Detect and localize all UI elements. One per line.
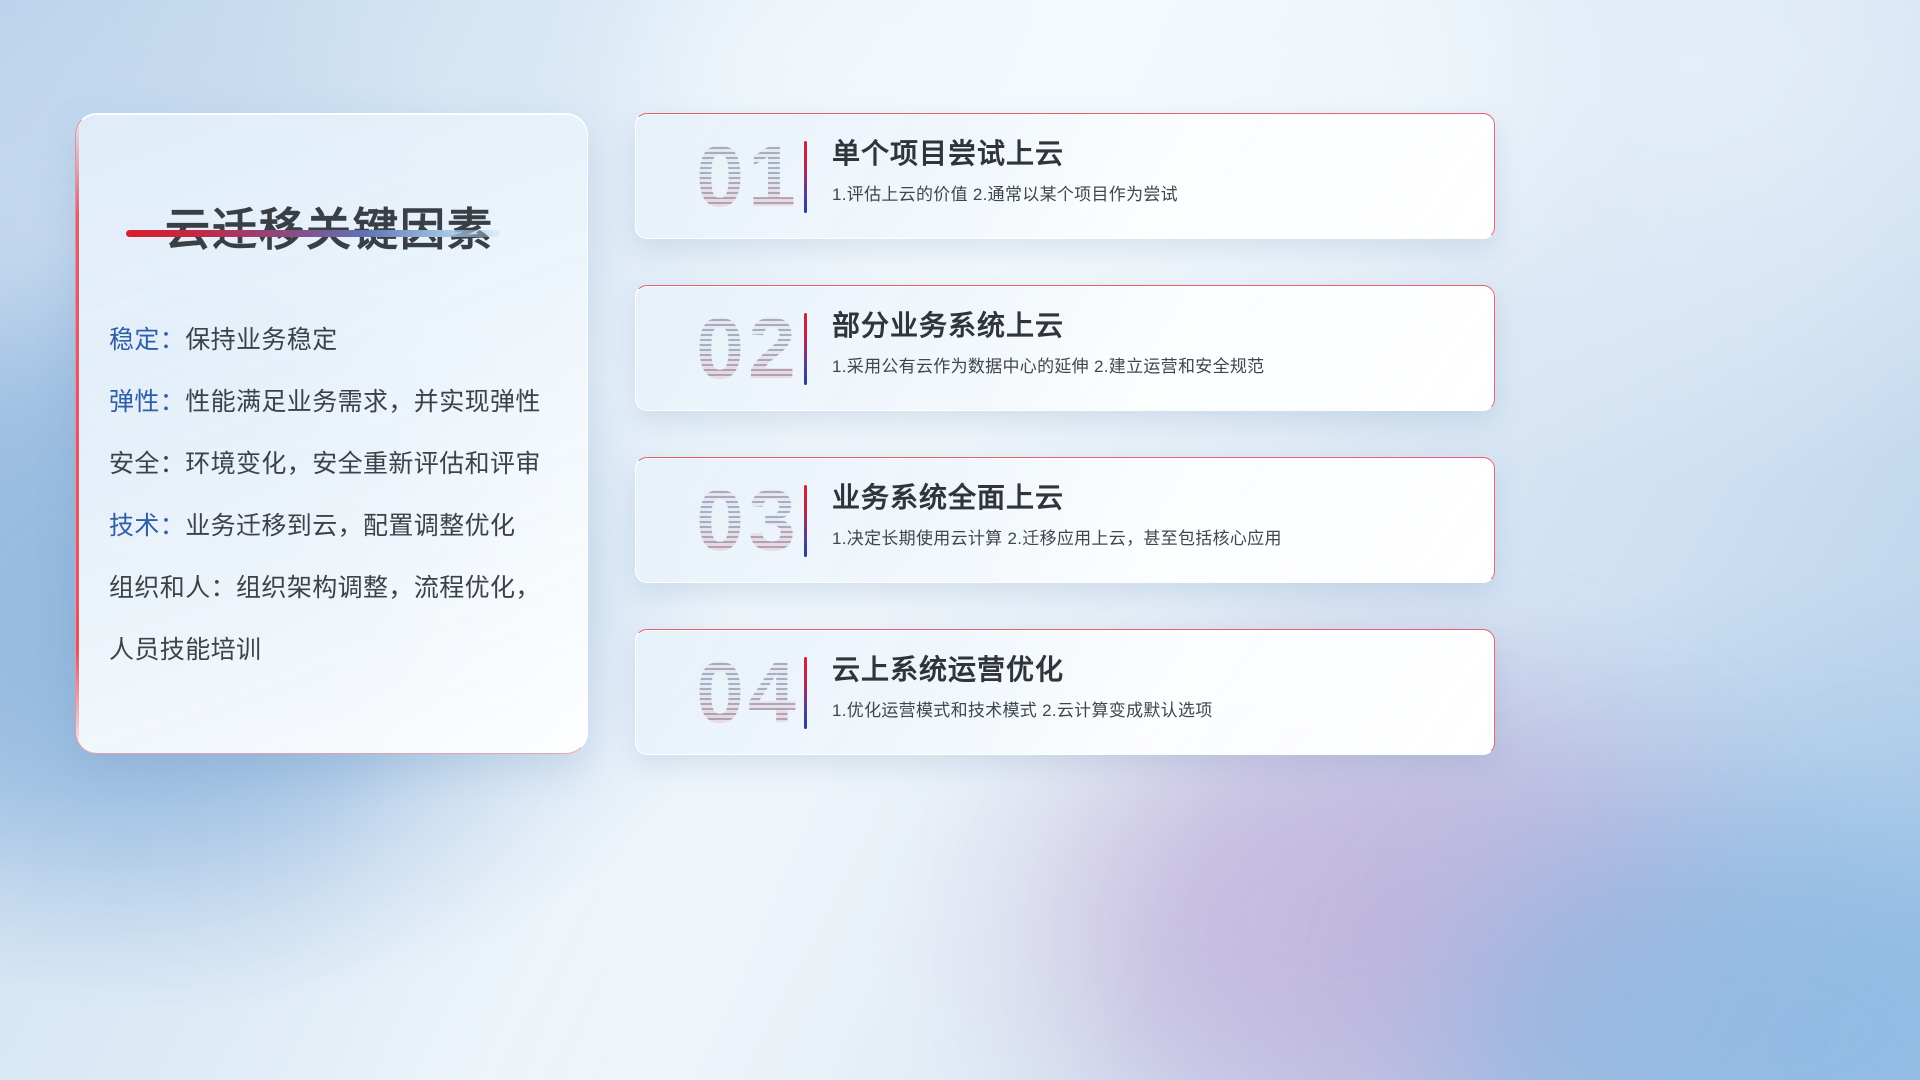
factor-text: 组织架构调整，流程优化， [236, 574, 541, 602]
step-title: 单个项目尝试上云 [832, 134, 1478, 174]
step-number: 02 [658, 294, 838, 404]
step-body: 部分业务系统上云 1.采用公有云作为数据中心的延伸 2.建立运营和安全规范 [832, 306, 1478, 380]
slide-canvas: 云迁移关键因素 稳定：保持业务稳定 弹性：性能满足业务需求，并实现弹性 安全：环… [0, 0, 1920, 1080]
step-card[interactable]: 02 02 部分业务系统上云 1.采用公有云作为数据中心的延伸 2.建立运营和安… [635, 285, 1495, 411]
step-title: 云上系统运营优化 [832, 650, 1478, 690]
step-accent-bar [804, 657, 807, 729]
key-factors-panel: 云迁移关键因素 稳定：保持业务稳定 弹性：性能满足业务需求，并实现弹性 安全：环… [75, 113, 588, 754]
list-item: 人员技能培训 [109, 619, 569, 681]
factor-text: 保持业务稳定 [185, 326, 337, 354]
factor-text: 环境变化，安全重新评估和评审 [185, 450, 541, 478]
step-number: 01 [658, 122, 838, 232]
factor-text: 性能满足业务需求，并实现弹性 [185, 388, 541, 416]
step-description: 1.决定长期使用云计算 2.迁移应用上云，甚至包括核心应用 [832, 526, 1478, 552]
step-body: 云上系统运营优化 1.优化运营模式和技术模式 2.云计算变成默认选项 [832, 650, 1478, 724]
list-item: 技术：业务迁移到云，配置调整优化 [109, 495, 569, 557]
factor-key: 技术： [109, 512, 185, 540]
factor-text: 业务迁移到云，配置调整优化 [185, 512, 515, 540]
step-title: 业务系统全面上云 [832, 478, 1478, 518]
list-item: 安全：环境变化，安全重新评估和评审 [109, 433, 569, 495]
step-accent-bar [804, 313, 807, 385]
slide-content: 云迁移关键因素 稳定：保持业务稳定 弹性：性能满足业务需求，并实现弹性 安全：环… [0, 0, 1920, 1080]
step-body: 业务系统全面上云 1.决定长期使用云计算 2.迁移应用上云，甚至包括核心应用 [832, 478, 1478, 552]
factor-text: 人员技能培训 [109, 636, 261, 664]
step-body: 单个项目尝试上云 1.评估上云的价值 2.通常以某个项目作为尝试 [832, 134, 1478, 208]
list-item: 组织和人：组织架构调整，流程优化， [109, 557, 569, 619]
step-description: 1.采用公有云作为数据中心的延伸 2.建立运营和安全规范 [832, 354, 1478, 380]
list-item: 稳定：保持业务稳定 [109, 309, 569, 371]
step-description: 1.优化运营模式和技术模式 2.云计算变成默认选项 [832, 698, 1478, 724]
step-accent-bar [804, 141, 807, 213]
step-card[interactable]: 04 04 云上系统运营优化 1.优化运营模式和技术模式 2.云计算变成默认选项 [635, 629, 1495, 755]
list-item: 弹性：性能满足业务需求，并实现弹性 [109, 371, 569, 433]
factor-key: 组织和人： [109, 574, 236, 602]
factor-key: 稳定： [109, 326, 185, 354]
step-card[interactable]: 01 01 单个项目尝试上云 1.评估上云的价值 2.通常以某个项目作为尝试 [635, 113, 1495, 239]
step-number: 04 [658, 638, 838, 748]
migration-steps-list: 01 01 单个项目尝试上云 1.评估上云的价值 2.通常以某个项目作为尝试 0… [635, 113, 1495, 801]
step-accent-bar [804, 485, 807, 557]
key-factors-list: 稳定：保持业务稳定 弹性：性能满足业务需求，并实现弹性 安全：环境变化，安全重新… [109, 309, 569, 681]
step-number: 03 [658, 466, 838, 576]
title-underline-rule [126, 230, 500, 237]
factor-key: 安全： [109, 450, 185, 478]
factor-key: 弹性： [109, 388, 185, 416]
step-description: 1.评估上云的价值 2.通常以某个项目作为尝试 [832, 182, 1478, 208]
page-title: 云迁移关键因素 [165, 193, 494, 258]
step-title: 部分业务系统上云 [832, 306, 1478, 346]
step-card[interactable]: 03 03 业务系统全面上云 1.决定长期使用云计算 2.迁移应用上云，甚至包括… [635, 457, 1495, 583]
